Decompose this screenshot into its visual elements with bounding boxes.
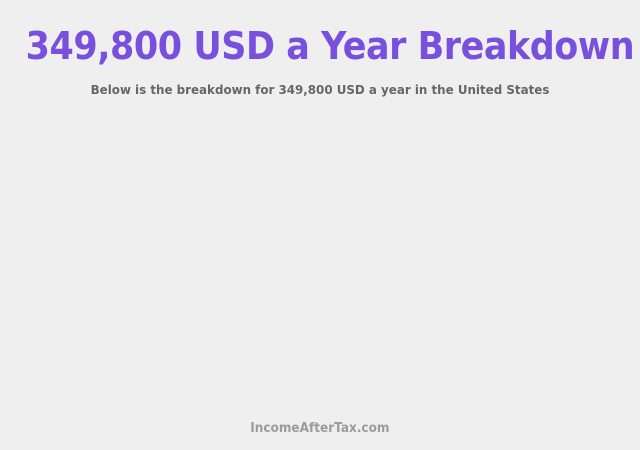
page-footer: IncomeAfterTax.com — [0, 419, 640, 438]
breakdown-content-area — [0, 120, 640, 410]
page-title: 349,800 USD a Year Breakdown — [26, 0, 615, 68]
page-subtitle: Below is the breakdown for 349,800 USD a… — [16, 68, 624, 98]
page-header: 349,800 USD a Year Breakdown Below is th… — [0, 0, 640, 98]
breakdown-page: 349,800 USD a Year Breakdown Below is th… — [0, 0, 640, 450]
site-watermark: IncomeAfterTax.com — [250, 420, 389, 438]
